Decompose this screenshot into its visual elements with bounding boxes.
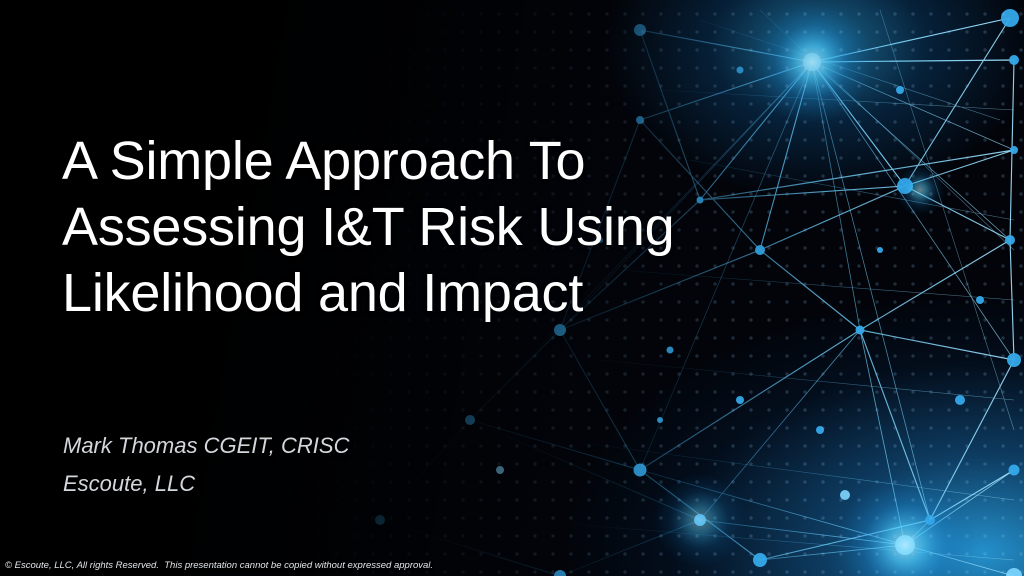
title-line-2: Assessing I&T Risk Using (62, 194, 702, 260)
slide-title: A Simple Approach To Assessing I&T Risk … (62, 128, 702, 326)
presenter-company: Escoute, LLC (63, 465, 349, 503)
copyright-footer: © Escoute, LLC, All rights Reserved. Thi… (5, 560, 433, 571)
title-line-1: A Simple Approach To (62, 128, 702, 194)
title-line-3: Likelihood and Impact (62, 260, 702, 326)
presenter-name: Mark Thomas CGEIT, CRISC (63, 427, 349, 465)
slide-subtitle: Mark Thomas CGEIT, CRISC Escoute, LLC (63, 427, 349, 503)
title-slide: A Simple Approach To Assessing I&T Risk … (0, 0, 1024, 576)
